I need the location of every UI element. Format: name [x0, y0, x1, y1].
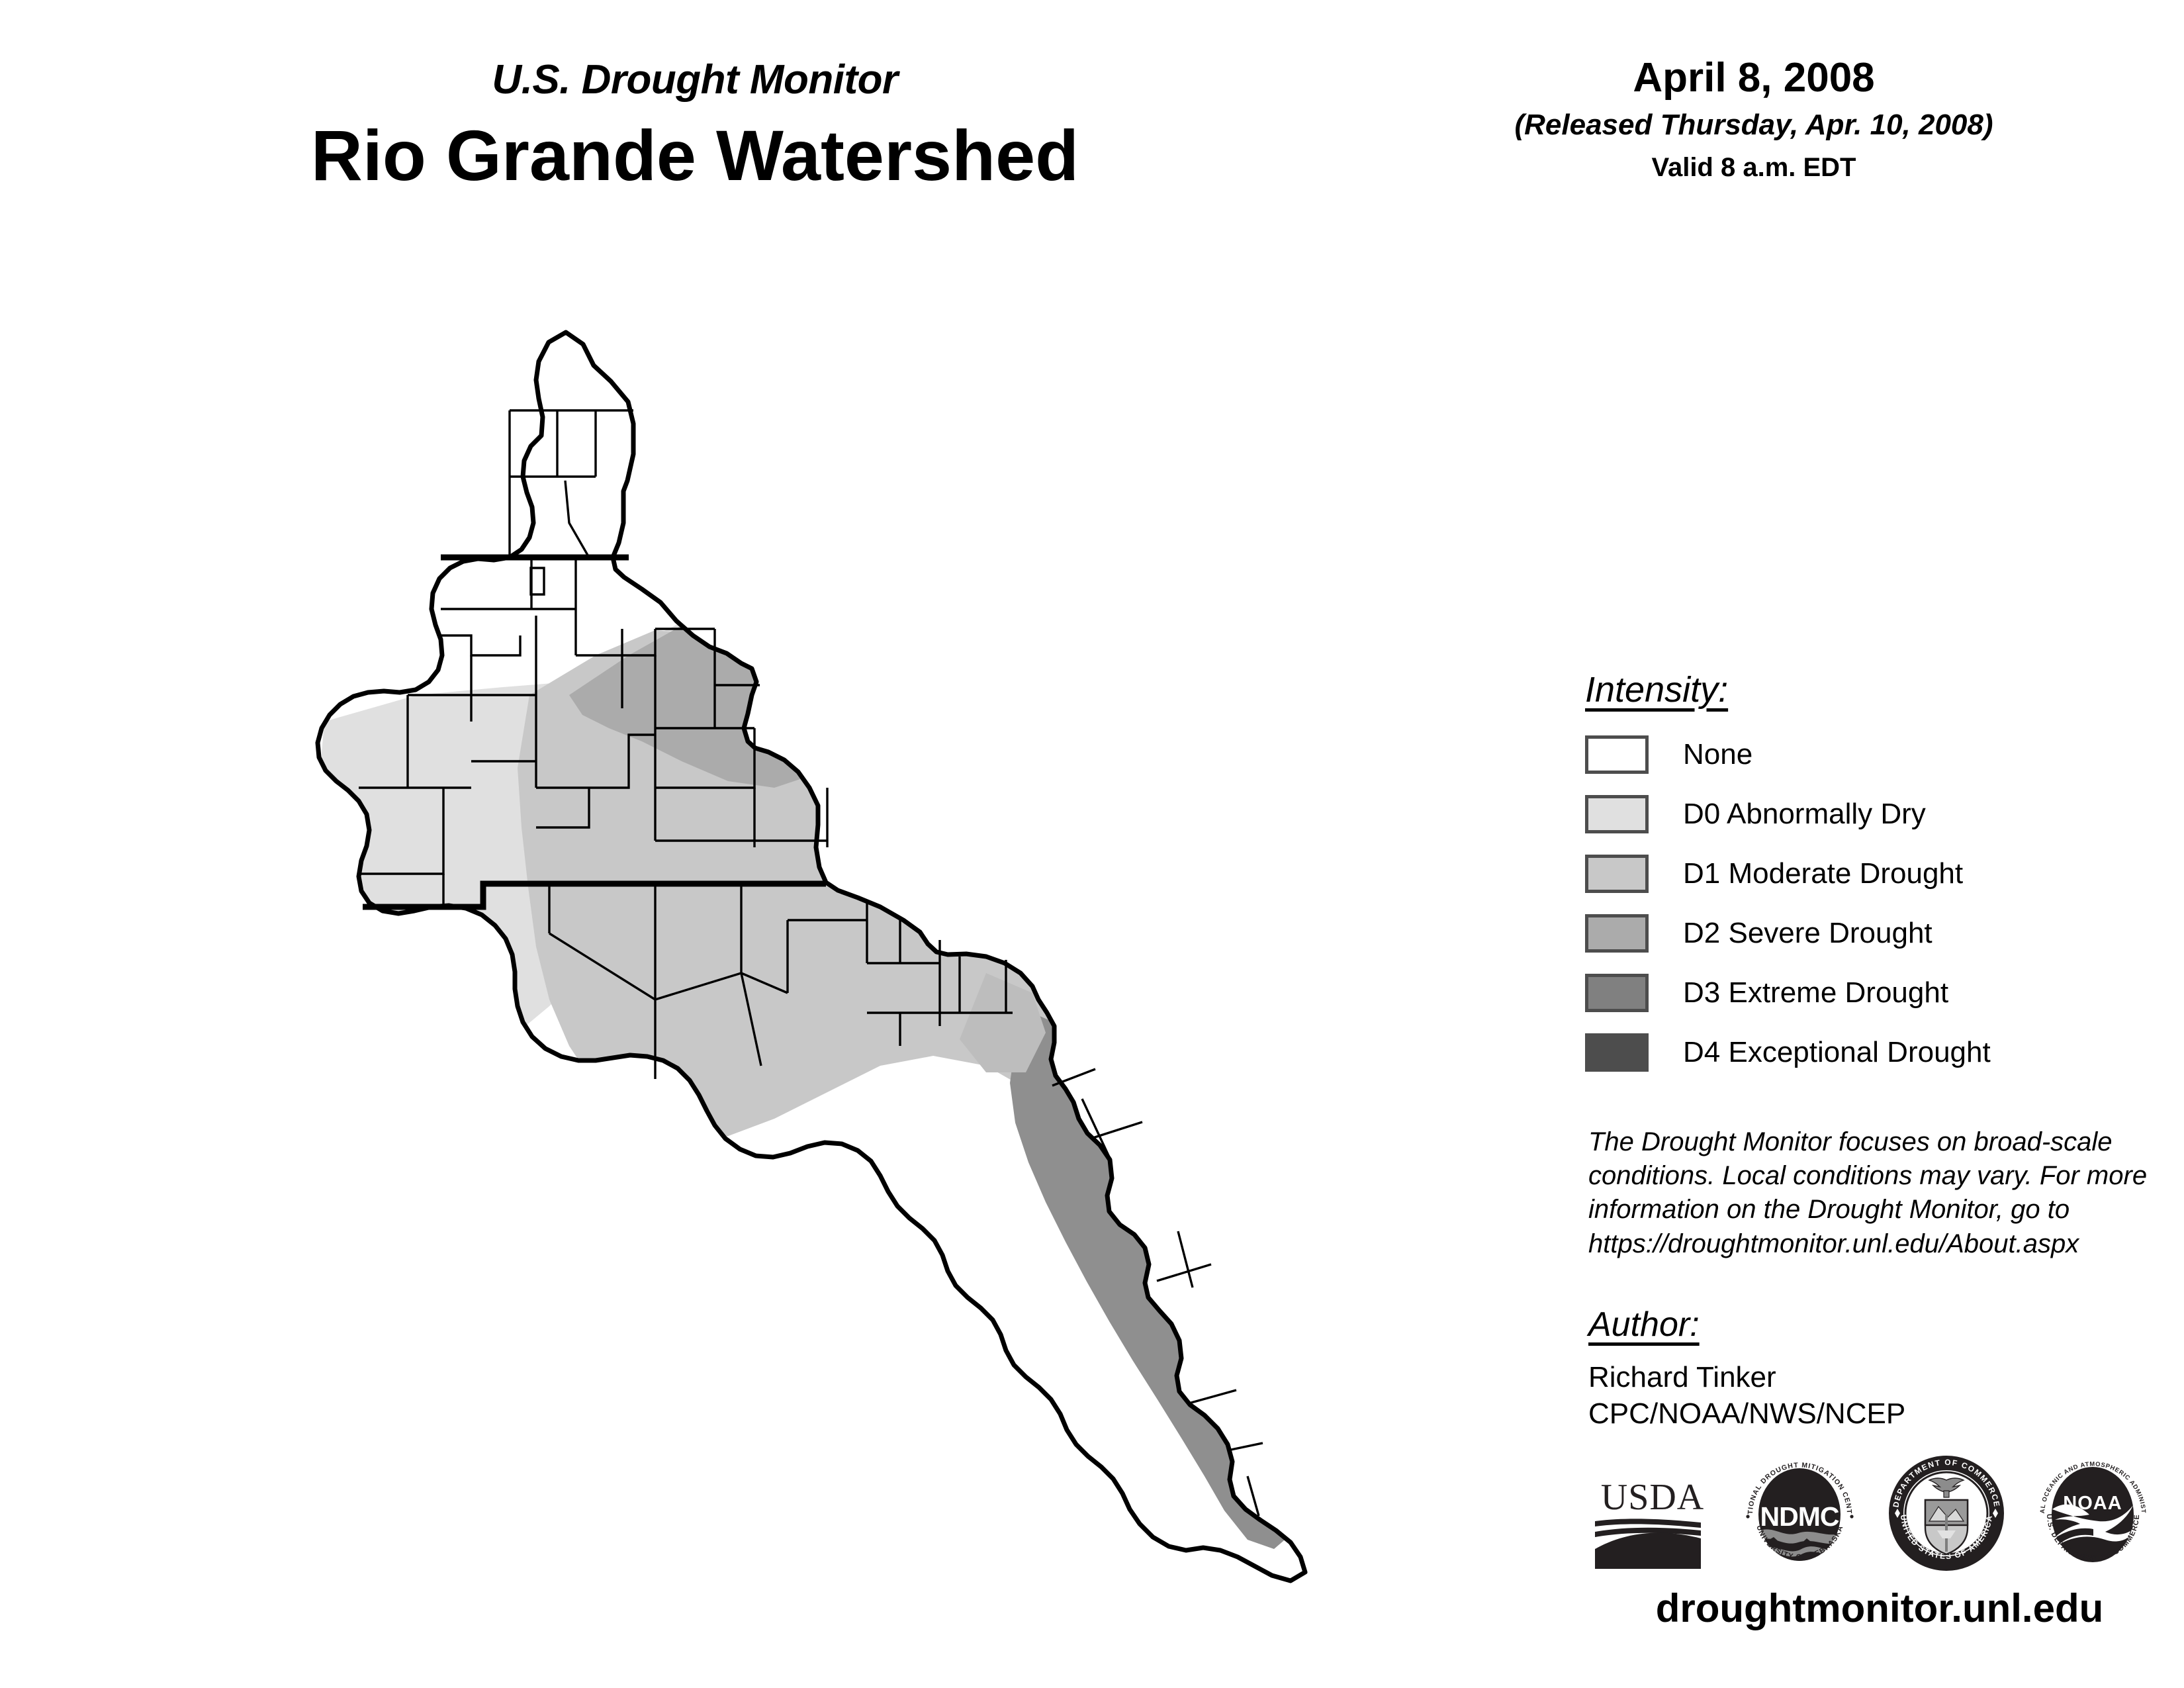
released-date: (Released Thursday, Apr. 10, 2008)	[1456, 110, 2052, 140]
svg-text:USDA: USDA	[1601, 1477, 1704, 1518]
legend-label-d2: D2 Severe Drought	[1683, 919, 1933, 948]
legend-label-d4: D4 Exceptional Drought	[1683, 1038, 1991, 1067]
page-title: Rio Grande Watershed	[199, 118, 1191, 193]
svg-text:NOAA: NOAA	[2063, 1493, 2122, 1514]
legend-item-d4[interactable]: D4 Exceptional Drought	[1585, 1023, 2128, 1082]
agency-logo-strip: USDA NDMC NATIONAL DROUGHT MITIGATION CE…	[1588, 1446, 2158, 1579]
legend: Intensity: None D0 Abnormally Dry D1 Mod…	[1585, 672, 2128, 1082]
svg-text:NDMC: NDMC	[1760, 1501, 1839, 1532]
legend-swatch-none	[1585, 735, 1649, 774]
legend-swatch-d0	[1585, 795, 1649, 833]
legend-item-d2[interactable]: D2 Severe Drought	[1585, 904, 2128, 963]
legend-label-d1: D1 Moderate Drought	[1683, 859, 1963, 888]
disclaimer-text: The Drought Monitor focuses on broad-sca…	[1588, 1125, 2158, 1261]
valid-time: Valid 8 a.m. EDT	[1456, 154, 2052, 181]
drought-map[interactable]	[285, 324, 1317, 1609]
date-block: April 8, 2008 (Released Thursday, Apr. 1…	[1456, 56, 2052, 181]
legend-label-d3: D3 Extreme Drought	[1683, 978, 1948, 1008]
author-heading: Author:	[1588, 1307, 2158, 1342]
legend-swatch-d3	[1585, 974, 1649, 1012]
footer-url[interactable]: droughtmonitor.unl.edu	[1588, 1589, 2171, 1628]
legend-item-d3[interactable]: D3 Extreme Drought	[1585, 963, 2128, 1023]
author-affiliation: CPC/NOAA/NWS/NCEP	[1588, 1395, 2158, 1432]
program-subtitle: U.S. Drought Monitor	[199, 60, 1191, 101]
legend-item-d0[interactable]: D0 Abnormally Dry	[1585, 784, 2128, 844]
author-name: Richard Tinker	[1588, 1359, 2158, 1395]
legend-label-none: None	[1683, 740, 1752, 769]
usda-logo: USDA	[1588, 1448, 1717, 1577]
legend-item-d1[interactable]: D1 Moderate Drought	[1585, 844, 2128, 904]
legend-swatch-d1	[1585, 855, 1649, 893]
legend-swatch-d2	[1585, 914, 1649, 953]
title-block-left: U.S. Drought Monitor Rio Grande Watershe…	[199, 60, 1191, 193]
author-block: Author: Richard Tinker CPC/NOAA/NWS/NCEP	[1588, 1307, 2158, 1432]
doc-logo: DEPARTMENT OF COMMERCE UNITED STATES OF …	[1882, 1448, 2011, 1577]
ndmc-logo: NDMC NATIONAL DROUGHT MITIGATION CENTER …	[1735, 1448, 1864, 1577]
noaa-logo: NOAA NATIONAL OCEANIC AND ATMOSPHERIC AD…	[2028, 1448, 2158, 1577]
issue-date: April 8, 2008	[1456, 56, 2052, 99]
legend-item-none[interactable]: None	[1585, 725, 2128, 784]
map-canvas[interactable]	[285, 324, 1317, 1609]
legend-heading: Intensity:	[1585, 672, 2128, 708]
legend-swatch-d4	[1585, 1033, 1649, 1072]
legend-label-d0: D0 Abnormally Dry	[1683, 800, 1926, 829]
